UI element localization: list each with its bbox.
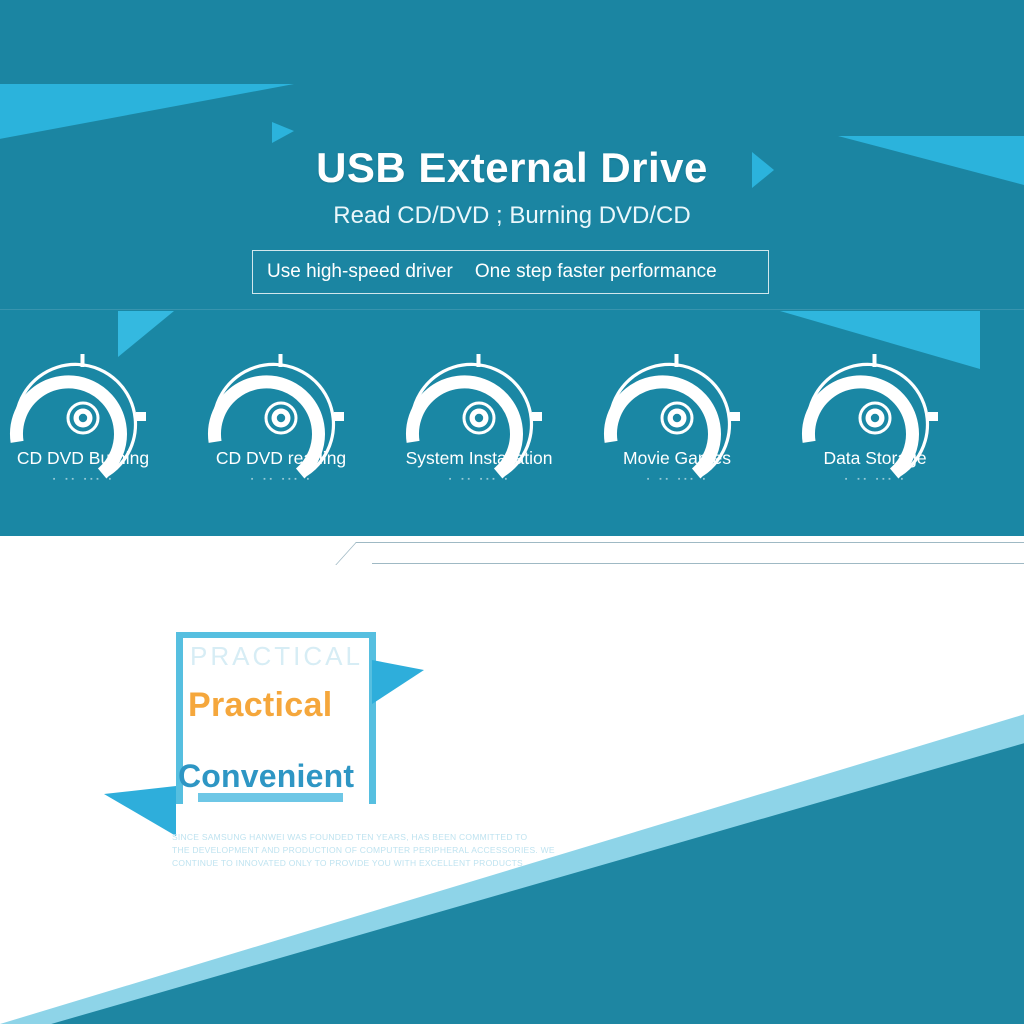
feature-item[interactable]: Movie Games▪ ▪▪ ▪▪▪ ▪ — [582, 352, 772, 502]
feature-item[interactable]: Data Storage▪ ▪▪ ▪▪▪ ▪ — [780, 352, 970, 502]
decorative-triangle-lower-left — [104, 786, 176, 836]
company-blurb: SINCE SAMSUNG HANWEI WAS FOUNDED TEN YEA… — [172, 831, 592, 870]
company-blurb-line-1: SINCE SAMSUNG HANWEI WAS FOUNDED TEN YEA… — [172, 831, 592, 844]
feature-dots-decoration: ▪ ▪▪ ▪▪▪ ▪ — [0, 476, 178, 484]
decorative-triangle-band-left — [118, 311, 174, 357]
feature-label: CD DVD reading — [186, 448, 376, 469]
panel-divider-line — [0, 309, 1024, 310]
feature-icon-row: CD DVD Burning▪ ▪▪ ▪▪▪ ▪ CD DVD reading▪… — [0, 352, 1024, 512]
feature-dots-decoration: ▪ ▪▪ ▪▪▪ ▪ — [186, 476, 376, 484]
feature-item[interactable]: CD DVD reading▪ ▪▪ ▪▪▪ ▪ — [186, 352, 376, 502]
feature-label: CD DVD Burning — [0, 448, 178, 469]
page-title: USB External Drive — [0, 144, 1024, 192]
company-blurb-line-2: THE DEVELOPMENT AND PRODUCTION OF COMPUT… — [172, 844, 592, 857]
decorative-outline-shape — [335, 542, 1024, 565]
decorative-triangle-upper-left — [0, 84, 294, 140]
tagline-left: Use high-speed driver — [267, 261, 453, 283]
headline-convenient: Convenient — [178, 758, 354, 795]
feature-label: Data Storage — [780, 448, 970, 469]
feature-label: Movie Games — [582, 448, 772, 469]
decorative-triangle-lower-right — [372, 660, 424, 704]
product-banner: USB External Drive Read CD/DVD ; Burning… — [0, 0, 1024, 1024]
feature-item[interactable]: CD DVD Burning▪ ▪▪ ▪▪▪ ▪ — [0, 352, 178, 502]
headline-practical: Practical — [188, 686, 332, 725]
company-blurb-line-3: CONTINUE TO INNOVATED ONLY TO PROVIDE YO… — [172, 857, 592, 870]
tagline-box: Use high-speed driver One step faster pe… — [252, 250, 769, 294]
feature-dots-decoration: ▪ ▪▪ ▪▪▪ ▪ — [780, 476, 970, 484]
feature-item[interactable]: System Installation▪ ▪▪ ▪▪▪ ▪ — [384, 352, 574, 502]
decorative-outline-line — [372, 563, 1024, 564]
feature-label: System Installation — [384, 448, 574, 469]
tagline-right: One step faster performance — [475, 261, 717, 283]
page-subtitle: Read CD/DVD ; Burning DVD/CD — [0, 202, 1024, 230]
decorative-triangle-title-left — [272, 122, 294, 143]
feature-dots-decoration: ▪ ▪▪ ▪▪▪ ▪ — [582, 476, 772, 484]
bracket-frame-top — [176, 632, 376, 638]
feature-dots-decoration: ▪ ▪▪ ▪▪▪ ▪ — [384, 476, 574, 484]
